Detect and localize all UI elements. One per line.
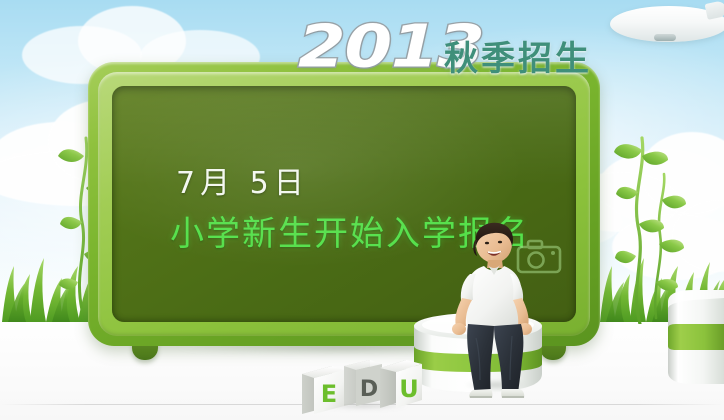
- seated-boy: [446, 222, 538, 398]
- round-stool-partial: [664, 288, 724, 397]
- edu-blocks: E D U: [300, 352, 430, 414]
- block-e: E: [302, 366, 344, 414]
- block-letter-d: D: [360, 377, 378, 402]
- block-letter-u: U: [399, 375, 419, 403]
- board-date-text: 7月 5日: [176, 158, 309, 202]
- block-d: D: [344, 360, 382, 406]
- block-letter-e: E: [321, 380, 337, 408]
- board-gloss: [112, 86, 576, 185]
- headline: 2013 秋季招生: [0, 6, 724, 76]
- block-u: U: [380, 360, 422, 408]
- poster-canvas: 7月 5日 小学新生开始入学报名: [0, 0, 724, 420]
- headline-season: 秋季招生: [444, 31, 592, 80]
